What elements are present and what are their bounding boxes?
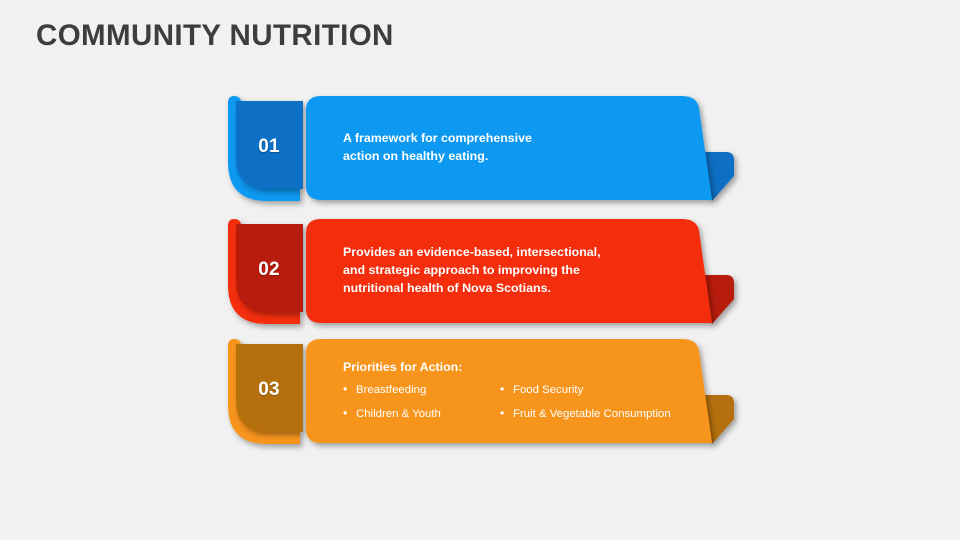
list-item-label: Breastfeeding bbox=[356, 383, 426, 398]
priorities-heading: Priorities for Action: bbox=[343, 358, 703, 376]
list-item: • Fruit & Vegetable Consumption bbox=[500, 406, 703, 422]
bullet-dot-icon: • bbox=[343, 382, 356, 397]
ribbon-text-line: and strategic approach to improving the bbox=[343, 261, 693, 279]
ribbon-badge-03 bbox=[236, 344, 303, 432]
ribbon-item-02[interactable]: 02 Provides an evidence-based, intersect… bbox=[0, 211, 960, 329]
bullet-dot-icon: • bbox=[500, 382, 513, 397]
page-title: COMMUNITY NUTRITION bbox=[36, 19, 394, 53]
bullet-dot-icon: • bbox=[343, 406, 356, 421]
priorities-block: Priorities for Action: • Breastfeeding •… bbox=[343, 331, 703, 449]
bullet-dot-icon: • bbox=[500, 406, 513, 421]
ribbon-badge-02 bbox=[236, 224, 303, 312]
list-item-label: Food Security bbox=[513, 383, 583, 398]
priorities-bullet-grid: • Breastfeeding • Food Security • Childr… bbox=[343, 382, 703, 422]
ribbon-text-line: Provides an evidence-based, intersection… bbox=[343, 243, 693, 261]
ribbon-text-02: Provides an evidence-based, intersection… bbox=[343, 211, 693, 329]
list-item: • Breastfeeding bbox=[343, 382, 500, 398]
ribbon-text-line: nutritional health of Nova Scotians. bbox=[343, 279, 693, 297]
list-item-label: Children & Youth bbox=[356, 407, 441, 422]
ribbon-text-line: action on healthy eating. bbox=[343, 147, 693, 165]
list-item-label: Fruit & Vegetable Consumption bbox=[513, 407, 671, 422]
ribbon-badge-01 bbox=[236, 101, 303, 189]
ribbon-text-01: A framework for comprehensive action on … bbox=[343, 88, 693, 206]
ribbon-text-line: A framework for comprehensive bbox=[343, 129, 693, 147]
list-item: • Food Security bbox=[500, 382, 703, 398]
slide-canvas: COMMUNITY NUTRITION 01 A framework for c… bbox=[0, 0, 960, 540]
list-item: • Children & Youth bbox=[343, 406, 500, 422]
ribbon-item-01[interactable]: 01 A framework for comprehensive action … bbox=[0, 88, 960, 206]
ribbon-item-03[interactable]: 03 Priorities for Action: • Breastfeedin… bbox=[0, 331, 960, 449]
